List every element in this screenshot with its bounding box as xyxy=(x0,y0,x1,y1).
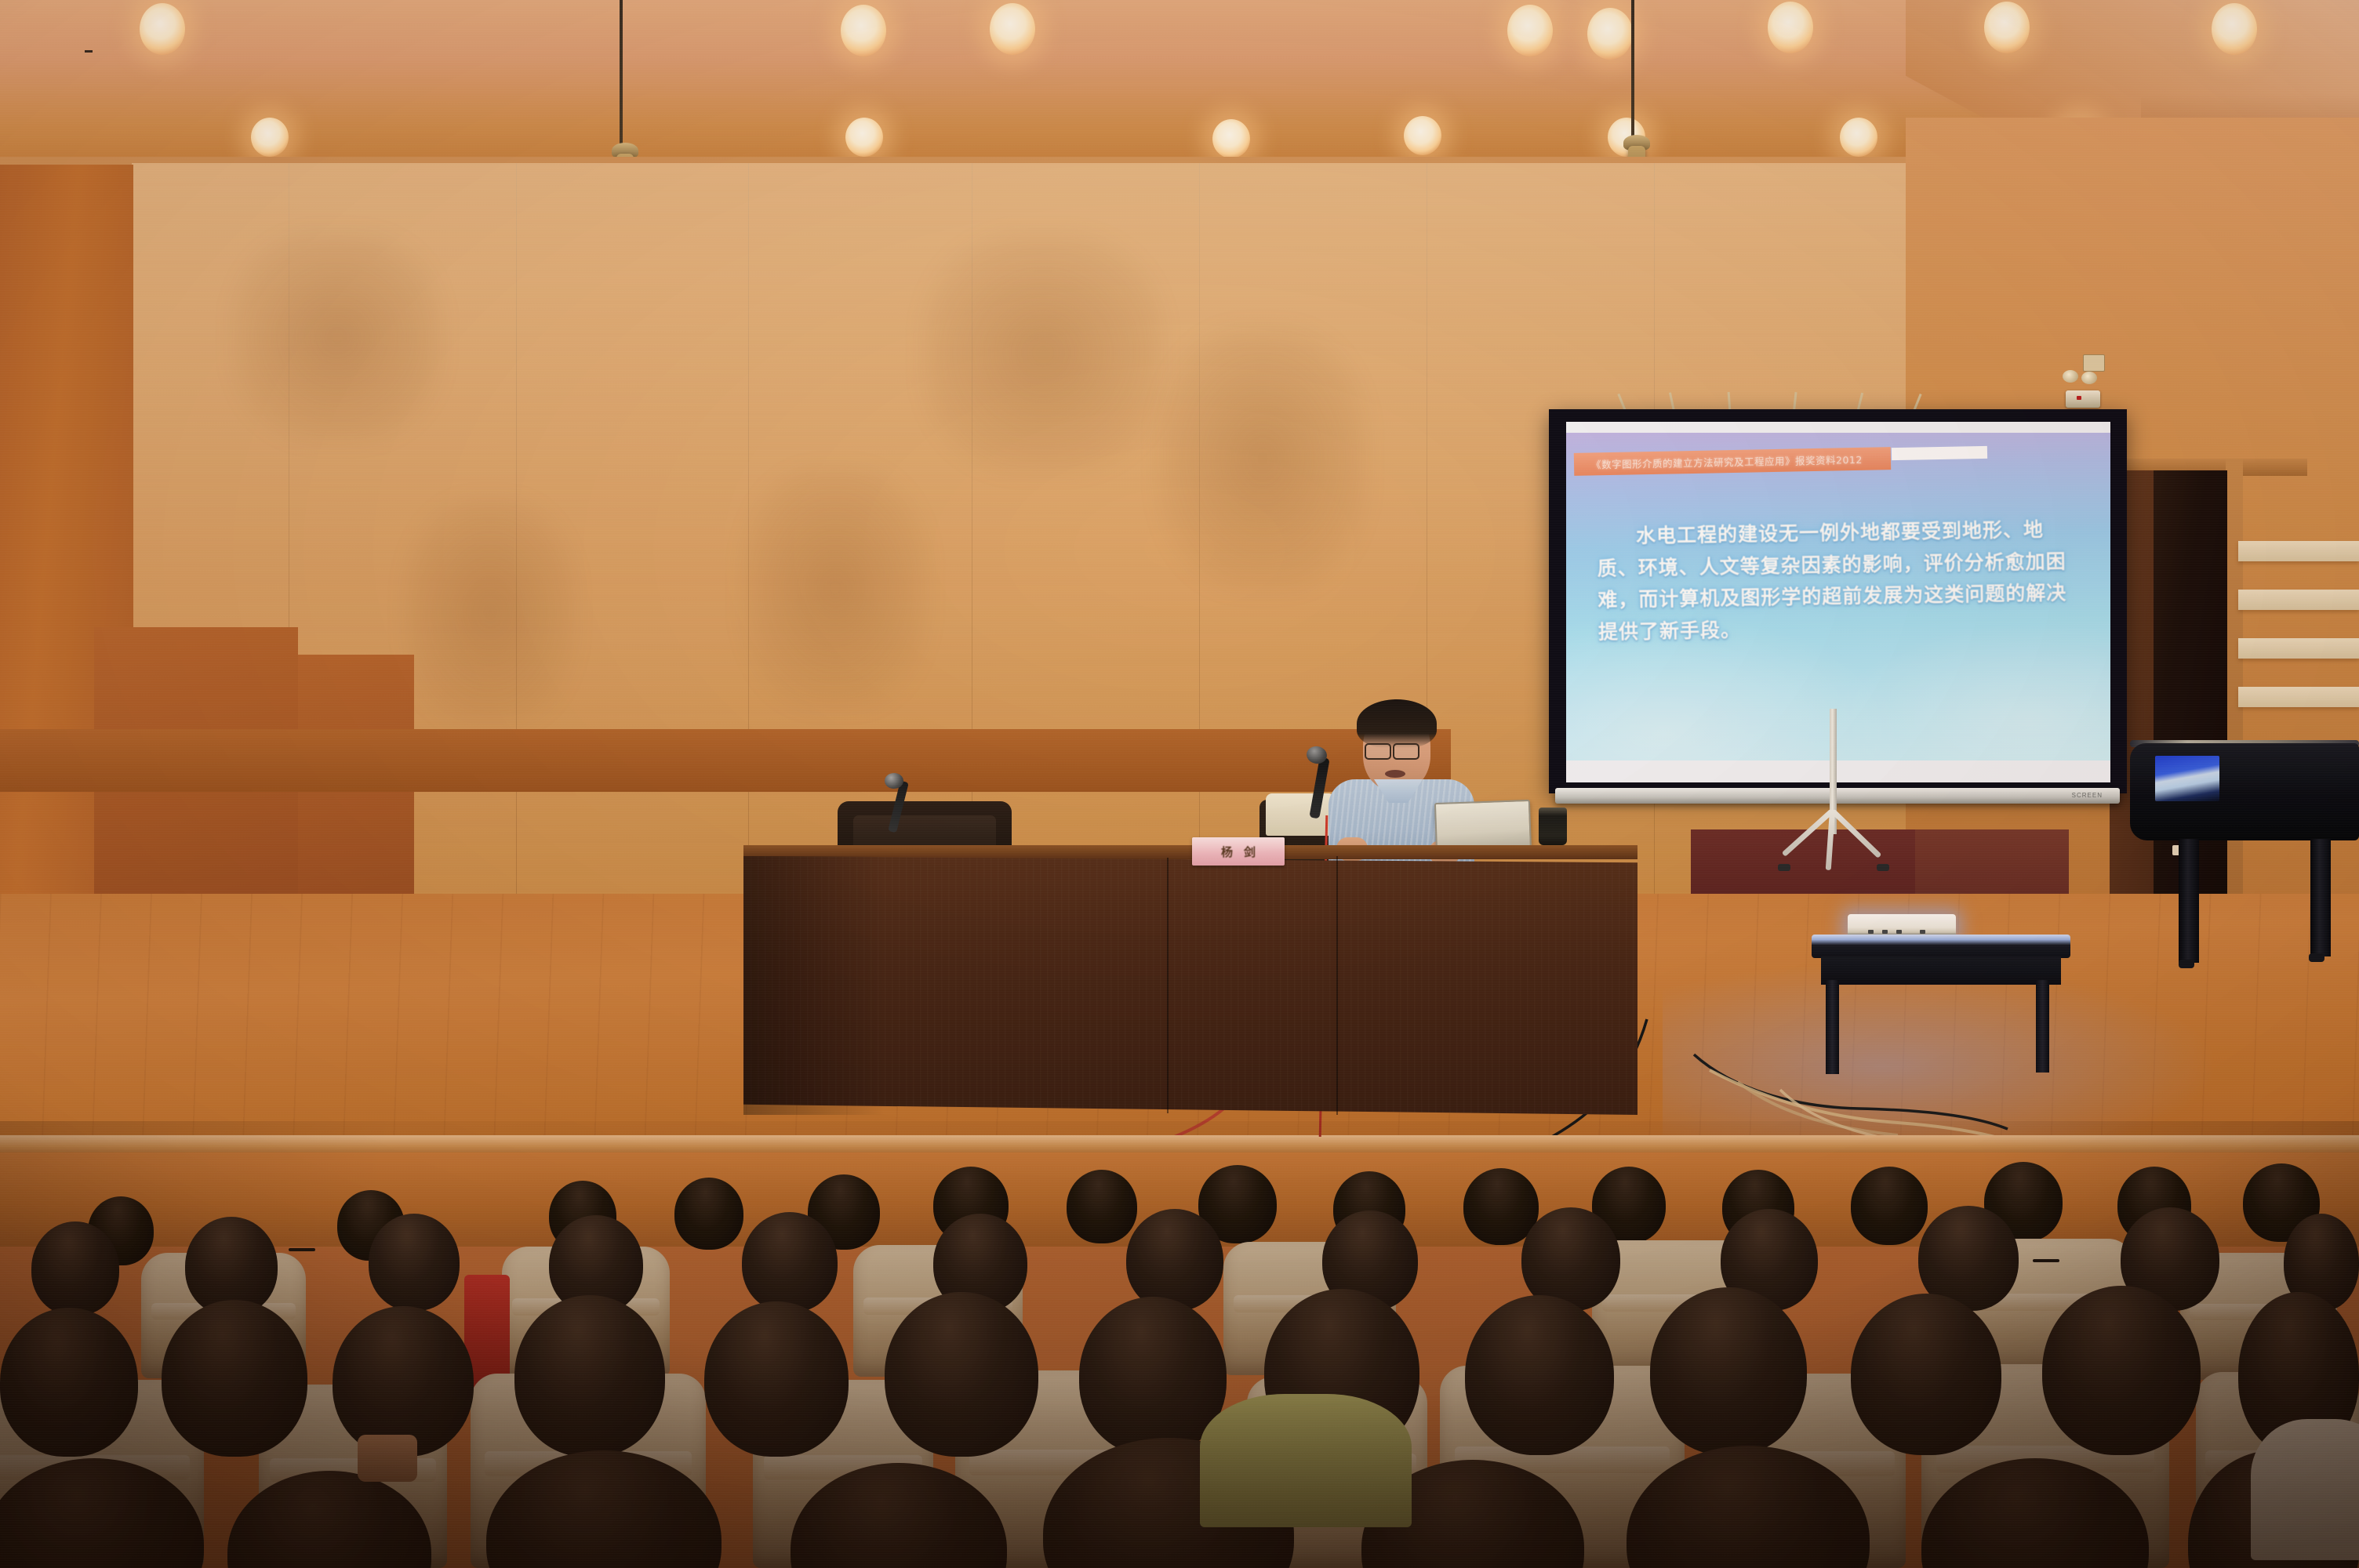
audience-head xyxy=(369,1214,460,1311)
slide-body-text: 水电工程的建设无一例外地都要受到地形、地质、环境、人文等复杂因素的影响，评价分析… xyxy=(1597,514,2085,648)
downlight xyxy=(2212,3,2257,55)
thermos-cup xyxy=(1539,808,1567,845)
projector-port xyxy=(1882,930,1888,934)
name-plate-char-2: 剑 xyxy=(1244,844,1256,860)
projector-bench xyxy=(1812,935,2070,1074)
audience-head xyxy=(1465,1295,1614,1455)
audience-neck xyxy=(358,1435,417,1482)
table-seam xyxy=(1167,858,1169,1113)
audience-head xyxy=(704,1301,849,1457)
bench-top xyxy=(1812,935,2070,958)
name-plate-char-1: 杨 xyxy=(1221,844,1233,860)
acoustic-slat xyxy=(2238,590,2359,610)
hanging-mic-cable xyxy=(620,0,623,147)
projector-port xyxy=(1920,930,1925,934)
downlight xyxy=(1404,116,1441,155)
wall-stain xyxy=(408,502,572,721)
audience-head xyxy=(1650,1287,1807,1455)
piano-caster xyxy=(2309,953,2324,962)
slide-banner-text: 《数字图形介质的建立方法研究及工程应用》报奖资料2012 xyxy=(1574,452,1863,472)
microphone-head-icon xyxy=(885,773,903,789)
audience-head xyxy=(1851,1167,1928,1245)
downlight xyxy=(841,5,886,56)
audience-head xyxy=(162,1300,307,1457)
audience-head xyxy=(1067,1170,1137,1243)
projector-port xyxy=(1868,930,1874,934)
audience-head xyxy=(1126,1209,1223,1311)
downlight xyxy=(1587,8,1633,60)
audience-head xyxy=(742,1212,838,1312)
acoustic-slat xyxy=(2238,541,2359,561)
bench-leg xyxy=(2036,980,2049,1073)
presenter-mouth xyxy=(1385,770,1405,778)
acoustic-slat xyxy=(2238,687,2359,707)
wall-dado-trim xyxy=(0,729,1451,792)
slide-banner-tab xyxy=(1892,446,1987,460)
downlight xyxy=(1507,5,1553,56)
emergency-lamp xyxy=(2063,370,2078,383)
piano-leg xyxy=(2310,839,2331,956)
name-plate: 杨 剑 xyxy=(1192,837,1285,866)
acoustic-slat xyxy=(2238,638,2359,659)
audience-head xyxy=(2042,1286,2201,1455)
downlight xyxy=(251,118,289,157)
audience-head xyxy=(0,1308,138,1457)
glasses-icon xyxy=(289,1248,315,1251)
grand-piano xyxy=(2130,721,2359,996)
audience-head xyxy=(1851,1294,2001,1455)
glasses-icon xyxy=(2033,1259,2059,1262)
downlight xyxy=(1768,2,1813,53)
downlight xyxy=(990,3,1035,55)
bench-apron xyxy=(1821,956,2061,985)
piano-music-display xyxy=(2155,756,2219,801)
downlight xyxy=(1984,2,2030,53)
audience-head xyxy=(514,1295,665,1457)
wall-stain xyxy=(925,235,1161,470)
tripod-foot xyxy=(1778,864,1790,871)
tripod-leg xyxy=(1826,811,1835,870)
wall-socket xyxy=(2083,354,2105,372)
screen-tripod xyxy=(1737,803,1925,867)
audience-shirt xyxy=(1200,1394,1412,1527)
table-seam xyxy=(1336,856,1338,1115)
projection-screen: 《数字图形介质的建立方法研究及工程应用》报奖资料2012 水电工程的建设无一例外… xyxy=(1549,392,2145,862)
audience-head xyxy=(31,1221,119,1316)
presenter-hair xyxy=(1357,699,1437,748)
audience-shirt xyxy=(2251,1419,2359,1560)
wall-stain xyxy=(745,470,925,706)
downlight xyxy=(1212,119,1250,158)
slide-content: 《数字图形介质的建立方法研究及工程应用》报奖资料2012 水电工程的建设无一例外… xyxy=(1566,433,2110,760)
tripod-leg xyxy=(1830,808,1881,858)
piano-caster xyxy=(2179,960,2194,968)
piano-leg xyxy=(2179,839,2199,963)
auditorium-scene: 《数字图形介质的建立方法研究及工程应用》报奖资料2012 水电工程的建设无一例外… xyxy=(0,0,2359,1568)
wall-stain xyxy=(1161,329,1365,588)
glasses-lens-right-icon xyxy=(1393,743,1419,760)
screen-bottom-bar: SCREEN xyxy=(1555,788,2120,804)
audience-head xyxy=(885,1292,1038,1457)
screen-brand-label: SCREEN xyxy=(2072,792,2103,799)
downlight xyxy=(1840,118,1877,157)
projector-port xyxy=(1896,930,1902,934)
conference-table xyxy=(743,845,1637,1135)
wall-stain xyxy=(235,235,439,439)
audience-area xyxy=(0,1121,2359,1568)
hanging-mic-cable xyxy=(1631,0,1634,140)
screen-frame: 《数字图形介质的建立方法研究及工程应用》报奖资料2012 水电工程的建设无一例外… xyxy=(1549,409,2127,793)
downlight xyxy=(845,118,883,157)
table-shadow xyxy=(743,856,885,1115)
glasses-bridge-icon xyxy=(85,50,93,53)
bench-leg xyxy=(1826,980,1839,1074)
slide-banner: 《数字图形介质的建立方法研究及工程应用》报奖资料2012 xyxy=(1574,447,1891,476)
emergency-lamp xyxy=(2081,372,2097,384)
downlight xyxy=(140,3,185,55)
audience-head xyxy=(674,1178,743,1250)
glasses-lens-left-icon xyxy=(1365,743,1391,760)
screen-surface: 《数字图形介质的建立方法研究及工程应用》报奖资料2012 水电工程的建设无一例外… xyxy=(1566,422,2110,782)
tripod-foot xyxy=(1877,864,1889,871)
